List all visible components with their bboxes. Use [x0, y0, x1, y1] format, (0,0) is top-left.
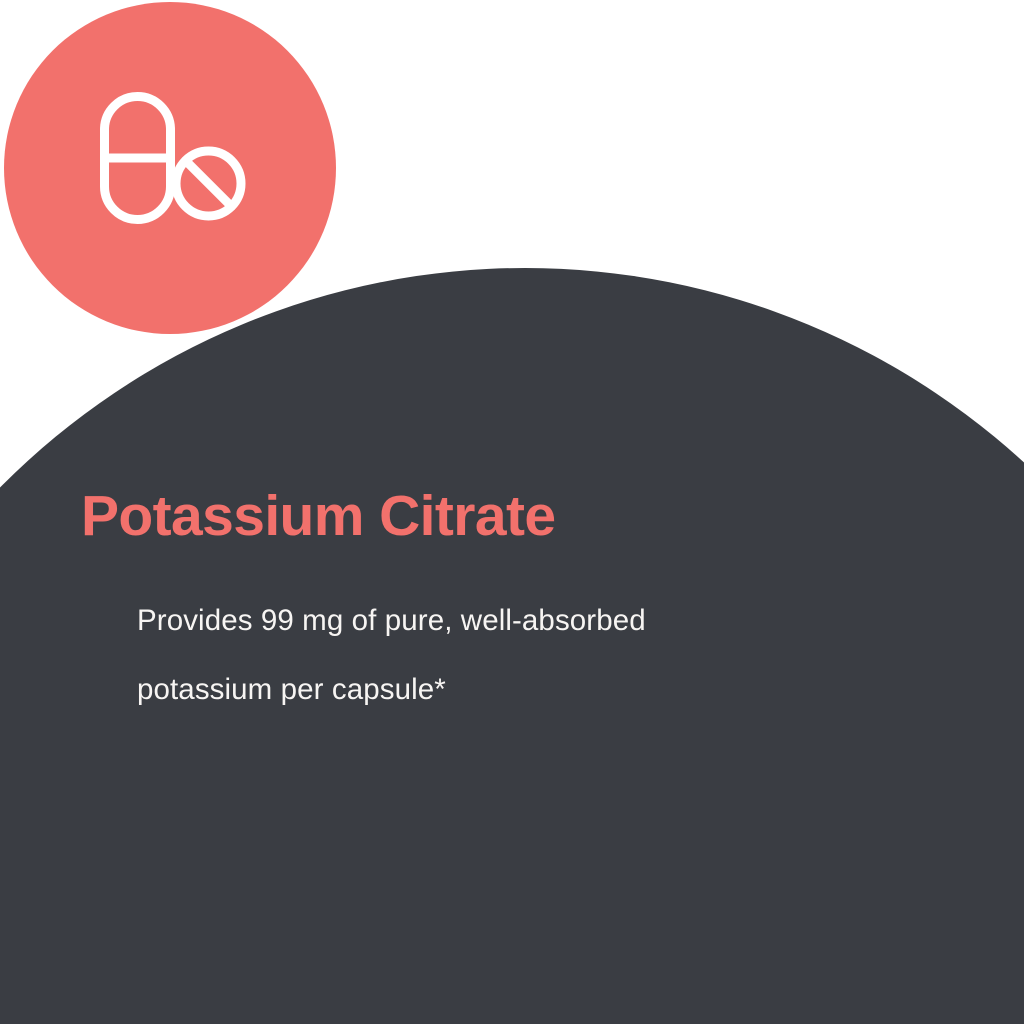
product-feature-card: Potassium Citrate Provides 99 mg of pure…: [0, 0, 1024, 1024]
page-title: Potassium Citrate: [81, 486, 555, 548]
card-text-content: Potassium Citrate Provides 99 mg of pure…: [0, 0, 1024, 1024]
description-line-1: Provides 99 mg of pure, well-absorbed: [137, 586, 867, 655]
description-line-2: potassium per capsule*: [137, 655, 867, 724]
product-description: Provides 99 mg of pure, well-absorbed po…: [137, 586, 867, 724]
